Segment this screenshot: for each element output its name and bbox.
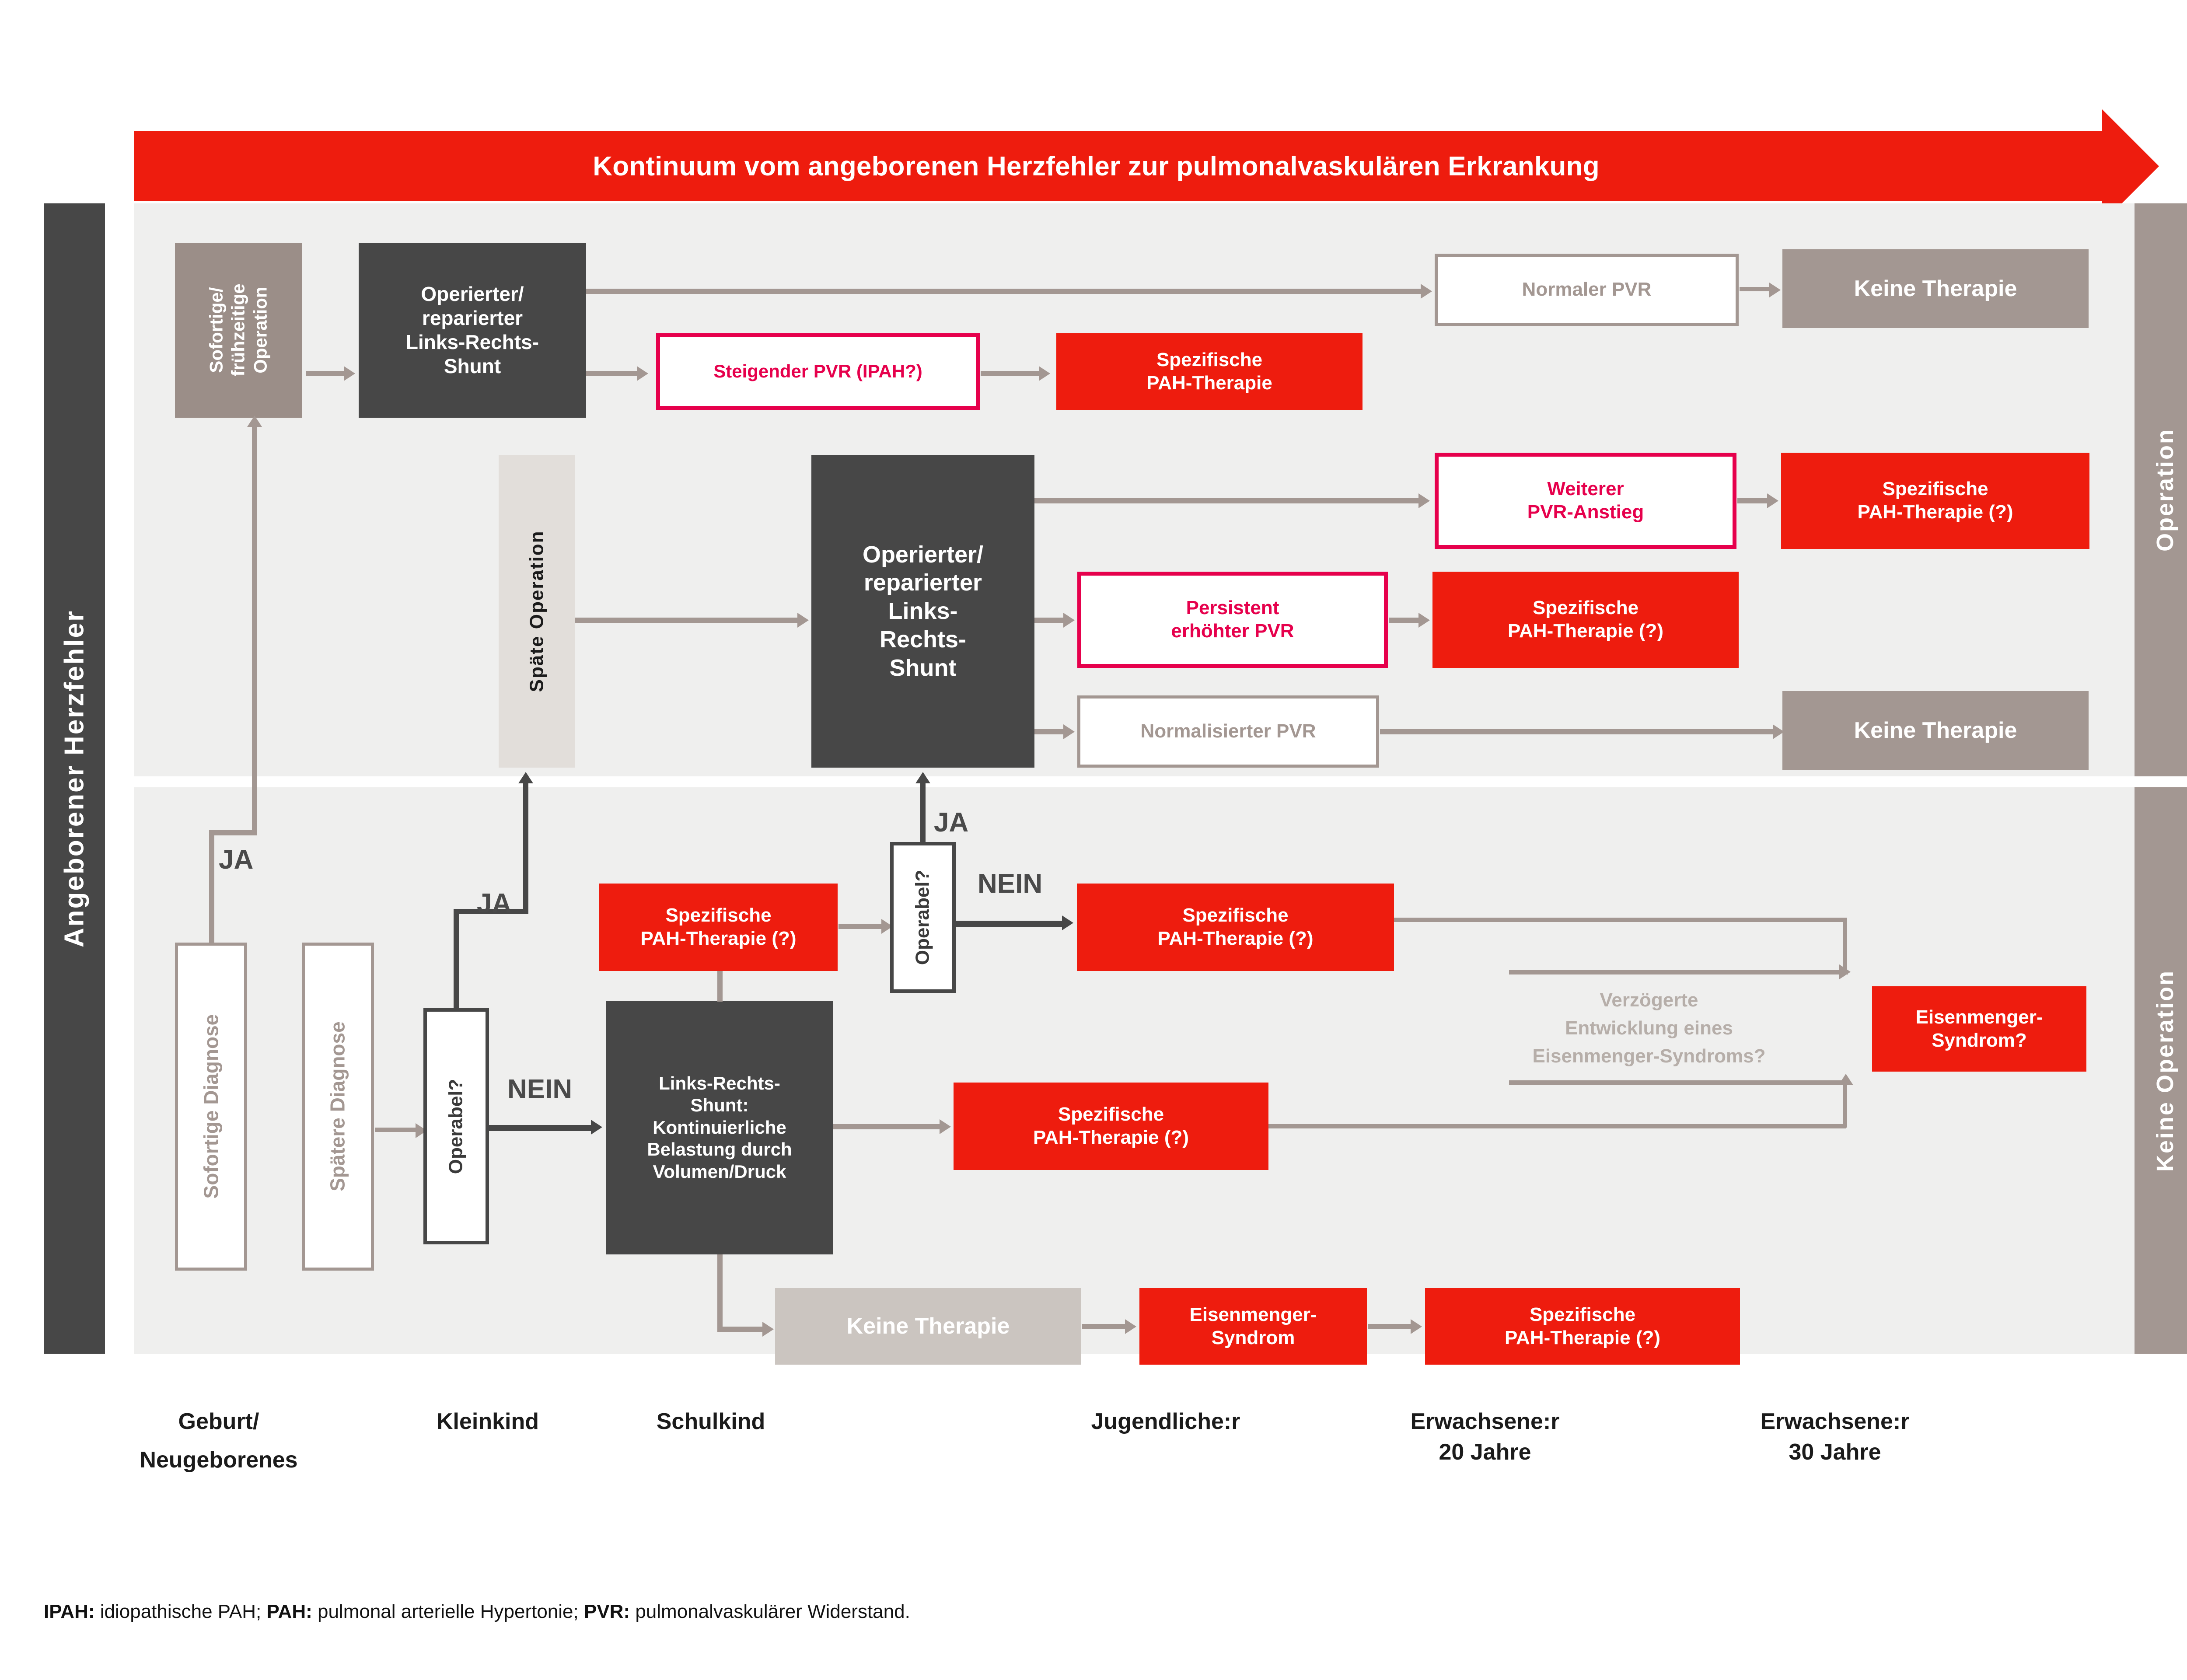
edge-shunt-down-h xyxy=(717,1327,763,1332)
timeline-label-adult-20-line2: 20 Jahre xyxy=(1363,1437,1607,1467)
node-specific-pah-therapy-1[interactable]: Spezifische PAH-Therapie xyxy=(1056,333,1363,410)
right-band-operation: Operation xyxy=(2135,203,2187,776)
edge-therapy6-upper-rail xyxy=(1509,1080,1848,1085)
arrowhead-icon xyxy=(1421,284,1432,299)
arrowhead-icon xyxy=(1838,1074,1853,1085)
node-specific-pah-therapy-3[interactable]: Spezifische PAH-Therapie (?) xyxy=(1432,572,1739,668)
node-specific-pah-therapy-2[interactable]: Spezifische PAH-Therapie (?) xyxy=(1781,453,2089,549)
footnote-abbr-pah: PAH: xyxy=(266,1601,312,1622)
node-persistent-elevated-pvr[interactable]: Persistent erhöhter PVR xyxy=(1077,572,1388,668)
edge-label-nein-1: NEIN xyxy=(507,1074,572,1105)
arrowhead-icon xyxy=(1418,493,1430,508)
label-delayed-eisenmenger-development: Verzögerte Entwicklung eines Eisenmenger… xyxy=(1457,986,1841,1070)
timeline-label-adult-20-line1: Erwachsene:r xyxy=(1363,1406,1607,1437)
timeline-label-adolescent: Jugendliche:r xyxy=(1043,1406,1288,1437)
footnote-def-pvr: pulmonalvaskulärer Widerstand. xyxy=(630,1601,910,1622)
arrowhead-icon xyxy=(591,1120,602,1135)
node-operable-2[interactable]: Operabel? xyxy=(890,842,956,993)
timeline-label-schoolchild-line1: Schulkind xyxy=(612,1406,809,1437)
continuum-banner: Kontinuum vom angeborenen Herzfehler zur… xyxy=(134,131,2102,201)
edge-label-ja-1: JA xyxy=(219,844,253,875)
edge-no-therapy-to-eisenmenger xyxy=(1082,1324,1126,1329)
right-band-operation-label: Operation xyxy=(2152,428,2179,552)
node-left-right-shunt-load[interactable]: Links-Rechts- Shunt: Kontinuierliche Bel… xyxy=(606,1001,833,1254)
edge-later-diagnosis-to-operable xyxy=(375,1128,416,1132)
timeline-label-adult-30-line2: 30 Jahre xyxy=(1712,1437,1957,1467)
arrowhead-icon xyxy=(1767,493,1778,508)
edge-label-ja-3: JA xyxy=(934,807,968,838)
edge-operable2-nein xyxy=(956,921,1063,927)
footnote: IPAH: idiopathische PAH; PAH: pulmonal a… xyxy=(44,1601,910,1623)
arrowhead-icon xyxy=(1125,1319,1136,1334)
arrowhead-icon xyxy=(344,366,355,381)
arrowhead-icon xyxy=(940,1119,951,1134)
edge-therapy6-right xyxy=(1268,1124,1846,1128)
edge-immediate-diagnosis-up-h xyxy=(209,830,257,835)
arrowhead-icon xyxy=(247,416,262,427)
arrowhead-icon xyxy=(1063,613,1075,628)
edge-normalized-pvr-to-no-therapy xyxy=(1380,729,1774,734)
edge-immediate-diagnosis-riser xyxy=(252,426,257,835)
footnote-abbr-ipah: IPAH: xyxy=(44,1601,95,1622)
node-no-therapy-1[interactable]: Keine Therapie xyxy=(1782,249,2089,328)
timeline-label-birth: Geburt/ Neugeborenes xyxy=(109,1406,328,1475)
node-immediate-early-surgery-label: Sofortige/ frühzeitige Operation xyxy=(205,284,271,377)
right-band-no-operation: Keine Operation xyxy=(2135,787,2187,1354)
node-immediate-diagnosis-label: Sofortige Diagnose xyxy=(199,1014,223,1199)
node-operable-1-label: Operabel? xyxy=(445,1079,468,1174)
edge-therapy4-to-operable2 xyxy=(838,924,882,929)
timeline-label-birth-line2: Neugeborenes xyxy=(109,1445,328,1475)
edge-shunt-to-persistent-pvr xyxy=(1034,618,1064,623)
diagram-canvas: Kontinuum vom angeborenen Herzfehler zur… xyxy=(0,0,2187,1680)
edge-shunt-down xyxy=(717,1254,723,1331)
node-no-therapy-2[interactable]: Keine Therapie xyxy=(1782,691,2089,770)
arrowhead-icon xyxy=(1039,366,1050,381)
node-immediate-diagnosis[interactable]: Sofortige Diagnose xyxy=(175,943,247,1271)
node-normalized-pvr[interactable]: Normalisierter PVR xyxy=(1077,695,1379,768)
edge-shunt-to-rising-pvr xyxy=(586,371,638,376)
edge-eisenmenger-to-therapy7 xyxy=(1368,1324,1411,1329)
node-no-therapy-3[interactable]: Keine Therapie xyxy=(775,1288,1081,1365)
left-band-label: Angeborener Herzfehler xyxy=(59,610,90,947)
timeline-label-adult-30: Erwachsene:r 30 Jahre xyxy=(1712,1406,1957,1467)
node-repaired-shunt-top[interactable]: Operierter/ reparierter Links-Rechts- Sh… xyxy=(359,243,586,418)
node-eisenmenger-syndrome-question[interactable]: Eisenmenger- Syndrom? xyxy=(1872,986,2086,1072)
node-specific-pah-therapy-6[interactable]: Spezifische PAH-Therapie (?) xyxy=(954,1083,1268,1170)
node-eisenmenger-syndrome[interactable]: Eisenmenger- Syndrom xyxy=(1139,1288,1367,1365)
footnote-def-pah: pulmonal arterielle Hypertonie; xyxy=(312,1601,584,1622)
edge-therapy5-right xyxy=(1394,918,1847,922)
arrowhead-icon xyxy=(1418,613,1430,628)
edge-operable1-riser xyxy=(523,783,528,914)
edge-normal-pvr-to-no-therapy xyxy=(1740,287,1770,291)
arrowhead-icon xyxy=(1062,915,1073,930)
node-specific-pah-therapy-7[interactable]: Spezifische PAH-Therapie (?) xyxy=(1425,1288,1740,1365)
node-late-surgery-label: Späte Operation xyxy=(525,531,548,692)
node-specific-pah-therapy-4[interactable]: Spezifische PAH-Therapie (?) xyxy=(599,884,838,971)
timeline-label-birth-line1: Geburt/ xyxy=(109,1406,328,1437)
edge-shunt-to-normalized-pvr xyxy=(1034,729,1064,734)
node-rising-pvr-ipah[interactable]: Steigender PVR (IPAH?) xyxy=(656,333,980,410)
edge-operable2-up xyxy=(920,783,926,844)
edge-shunt-to-further-pvr-rise xyxy=(1034,498,1419,503)
edge-label-nein-2: NEIN xyxy=(978,868,1042,899)
timeline-label-adult-30-line1: Erwachsene:r xyxy=(1712,1406,1957,1437)
arrowhead-icon xyxy=(637,366,648,381)
node-specific-pah-therapy-5[interactable]: Spezifische PAH-Therapie (?) xyxy=(1077,884,1394,971)
node-operable-1[interactable]: Operabel? xyxy=(423,1008,489,1244)
footnote-abbr-pvr: PVR: xyxy=(584,1601,630,1622)
edge-persistent-pvr-to-therapy xyxy=(1389,618,1419,623)
right-band-no-operation-label: Keine Operation xyxy=(2152,969,2179,1171)
edge-surgery-to-repaired-shunt xyxy=(306,371,345,376)
edge-operable1-up xyxy=(454,914,459,1010)
edge-further-pvr-to-therapy xyxy=(1737,498,1768,503)
arrowhead-icon xyxy=(915,772,930,783)
edge-label-ja-2: JA xyxy=(477,888,511,919)
arrowhead-icon xyxy=(1839,964,1851,979)
arrowhead-icon xyxy=(1063,724,1075,739)
banner-title: Kontinuum vom angeborenen Herzfehler zur… xyxy=(134,131,2058,201)
node-immediate-early-surgery[interactable]: Sofortige/ frühzeitige Operation xyxy=(175,243,302,418)
arrowhead-icon xyxy=(762,1322,774,1337)
edge-immediate-diagnosis-up xyxy=(209,835,214,945)
edge-rising-pvr-to-therapy xyxy=(981,371,1040,376)
arrowhead-icon xyxy=(1411,1319,1422,1334)
node-operable-2-label: Operabel? xyxy=(912,870,935,965)
arrowhead-icon xyxy=(1769,283,1781,297)
timeline-label-adolescent-line1: Jugendliche:r xyxy=(1043,1406,1288,1437)
node-later-diagnosis-label: Spätere Diagnose xyxy=(326,1022,350,1192)
node-repaired-shunt-mid[interactable]: Operierter/ reparierter Links- Rechts- S… xyxy=(811,455,1034,768)
node-later-diagnosis[interactable]: Spätere Diagnose xyxy=(302,943,374,1271)
node-further-pvr-rise[interactable]: Weiterer PVR-Anstieg xyxy=(1435,453,1736,549)
edge-shunt-to-normal-pvr xyxy=(586,289,1422,294)
timeline-label-schoolchild: Schulkind xyxy=(612,1406,809,1437)
node-late-surgery[interactable]: Späte Operation xyxy=(499,455,575,768)
edge-operable1-nein xyxy=(489,1125,592,1131)
left-band-congenital-heart-defect: Angeborener Herzfehler xyxy=(44,203,105,1354)
edge-therapy6-up xyxy=(1843,1084,1847,1128)
node-normal-pvr[interactable]: Normaler PVR xyxy=(1435,254,1739,326)
footnote-def-ipah: idiopathische PAH; xyxy=(95,1601,267,1622)
arrowhead-icon xyxy=(518,772,533,783)
edge-shunt-to-therapy6 xyxy=(833,1124,940,1129)
edge-late-surgery-to-shunt xyxy=(575,618,798,623)
timeline-label-adult-20: Erwachsene:r 20 Jahre xyxy=(1363,1406,1607,1467)
edge-therapy5-into-elbow xyxy=(1509,970,1848,974)
timeline-label-toddler-line1: Kleinkind xyxy=(389,1406,586,1437)
timeline-label-toddler: Kleinkind xyxy=(389,1406,586,1437)
arrowhead-icon xyxy=(797,613,809,628)
